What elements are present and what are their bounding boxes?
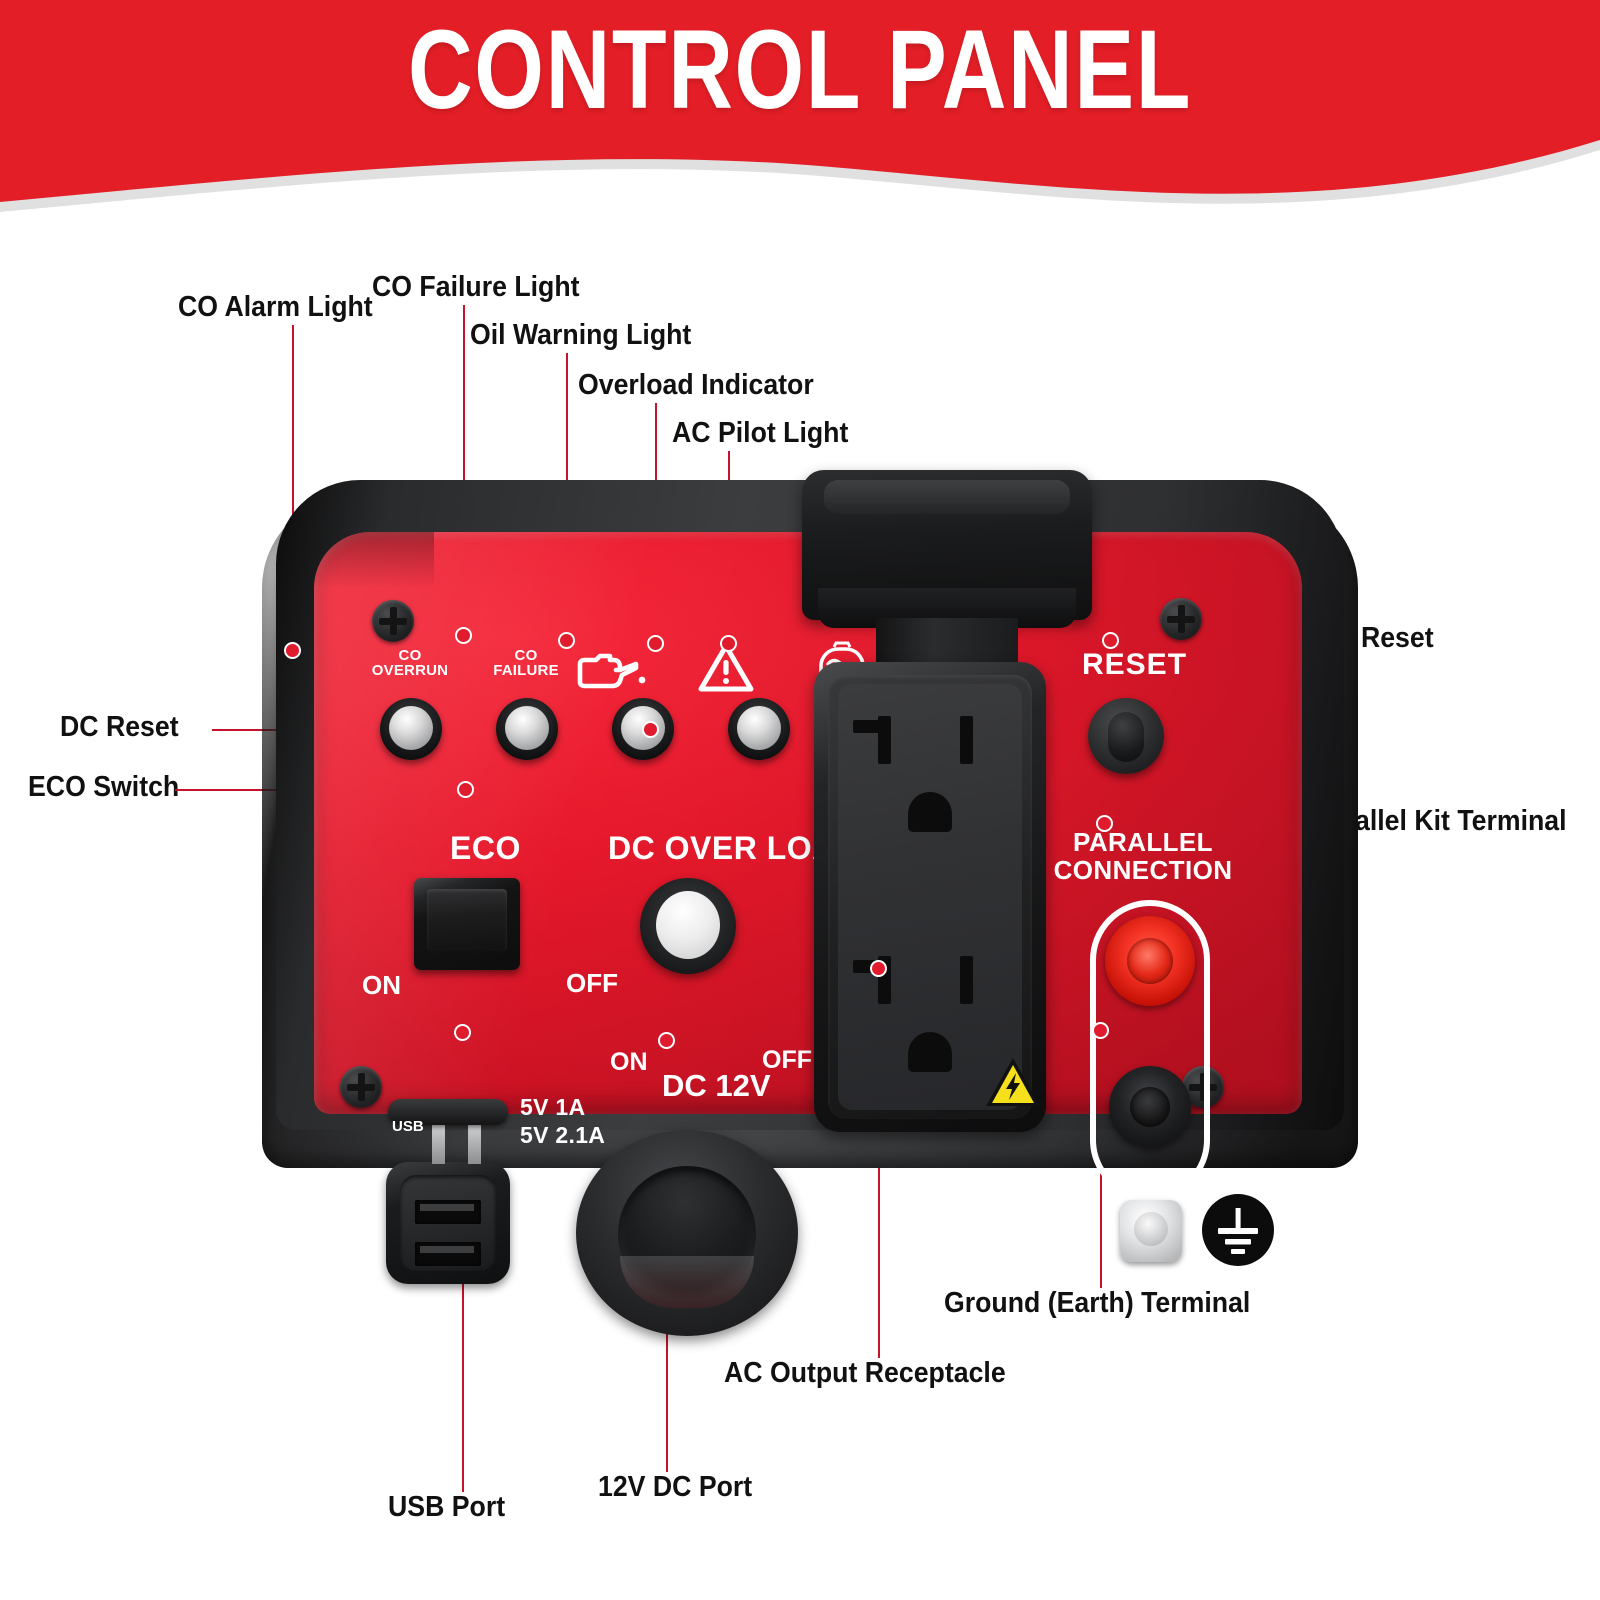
- screw-bottom-left: [340, 1066, 382, 1108]
- outlet-upper-hot: [960, 716, 973, 764]
- dc-12v-port[interactable]: [576, 1130, 798, 1336]
- callout-co-failure-light: CO Failure Light: [372, 272, 580, 302]
- indicator-light-co-overrun: [380, 698, 442, 760]
- receptacle-bezel: [828, 675, 1032, 1119]
- dot-usb-port: [454, 1024, 471, 1041]
- parallel-kit-terminal-positive[interactable]: [1105, 916, 1195, 1006]
- dot-oil-warning: [558, 632, 575, 649]
- callout-ground-terminal: Ground (Earth) Terminal: [944, 1288, 1250, 1318]
- dot-ac-reset: [1102, 632, 1119, 649]
- callout-ac-output-receptacle: AC Output Receptacle: [724, 1358, 1006, 1388]
- callout-usb-port: USB Port: [388, 1492, 505, 1522]
- screw-top-right: [1160, 598, 1202, 640]
- carry-handle-icon: [802, 470, 1092, 620]
- dc12v-on-label: ON: [610, 1048, 648, 1077]
- usb-rating-1-label: 5V 1A: [520, 1094, 585, 1121]
- callout-ac-pilot-light: AC Pilot Light: [672, 418, 848, 448]
- parallel-kit-terminal-negative[interactable]: [1109, 1066, 1191, 1148]
- usb-slot-upper[interactable]: [415, 1200, 481, 1224]
- usb-rating-2-label: 5V 2.1A: [520, 1122, 605, 1149]
- usb-tag-label: USB: [392, 1118, 424, 1135]
- dot-co-failure: [455, 627, 472, 644]
- callout-oil-warning-light: Oil Warning Light: [470, 320, 691, 350]
- callout-co-alarm-light: CO Alarm Light: [178, 292, 373, 322]
- indicator-light-overload: [728, 698, 790, 760]
- dot-overload: [647, 635, 664, 652]
- callout-12v-dc-port: 12V DC Port: [598, 1472, 752, 1502]
- dot-co-alarm: [284, 642, 301, 659]
- receptacle-face: [838, 684, 1022, 1110]
- page-title: CONTROL PANEL: [160, 14, 1440, 126]
- dot-ground-terminal: [1092, 1022, 1109, 1039]
- dot-ac-pilot: [720, 635, 737, 652]
- indicator-label-co-failure: CO FAILURE: [480, 648, 572, 679]
- outlet-upper-ground: [908, 792, 952, 832]
- parallel-connection-title: PARALLEL CONNECTION: [1048, 828, 1238, 884]
- callout-eco-switch: ECO Switch: [28, 772, 179, 802]
- screw-top-left: [372, 600, 414, 642]
- callout-dc-reset: DC Reset: [60, 712, 179, 742]
- callout-overload-indicator: Overload Indicator: [578, 370, 814, 400]
- eco-title-label: ECO: [450, 830, 521, 867]
- indicator-light-co-failure: [496, 698, 558, 760]
- dc12v-title-label: DC 12V: [662, 1068, 771, 1104]
- outlet-lower-hot: [960, 956, 973, 1004]
- reset-title-label: RESET: [1082, 648, 1187, 682]
- eco-switch[interactable]: [414, 878, 520, 970]
- usb-slot-lower[interactable]: [415, 1242, 481, 1266]
- dc-12v-port-rim-highlight: [620, 1256, 754, 1308]
- dot-parallel-kit: [1096, 815, 1113, 832]
- generator-control-panel: CO OVERRUN CO FAILURE: [262, 470, 1358, 1170]
- outlet-upper-neutral-horizontal: [853, 720, 891, 733]
- eco-off-label: OFF: [566, 968, 618, 999]
- dot-ac-output: [870, 960, 887, 977]
- dot-dc-port: [658, 1032, 675, 1049]
- control-panel-diagram: CONTROL PANEL CO Alarm Light CO Failure …: [0, 0, 1600, 1600]
- earth-ground-icon: [1202, 1194, 1274, 1266]
- usb-flap-strap-right: [468, 1120, 481, 1164]
- dc-overload-reset-button[interactable]: [640, 878, 736, 974]
- indicator-label-co-overrun: CO OVERRUN: [364, 648, 456, 679]
- header-banner: CONTROL PANEL: [0, 0, 1600, 230]
- dot-eco-switch: [457, 781, 474, 798]
- ac-reset-button[interactable]: [1088, 698, 1164, 774]
- high-voltage-icon: [984, 1056, 1042, 1110]
- usb-flap-strap-left: [432, 1120, 445, 1164]
- oil-can-icon: [572, 646, 648, 692]
- eco-on-label: ON: [362, 970, 401, 1001]
- handle-top-face: [824, 480, 1070, 514]
- ground-earth-terminal[interactable]: [1120, 1200, 1182, 1262]
- dc12v-off-label: OFF: [762, 1046, 812, 1075]
- outlet-lower-ground: [908, 1032, 952, 1072]
- dot-dc-reset: [642, 721, 659, 738]
